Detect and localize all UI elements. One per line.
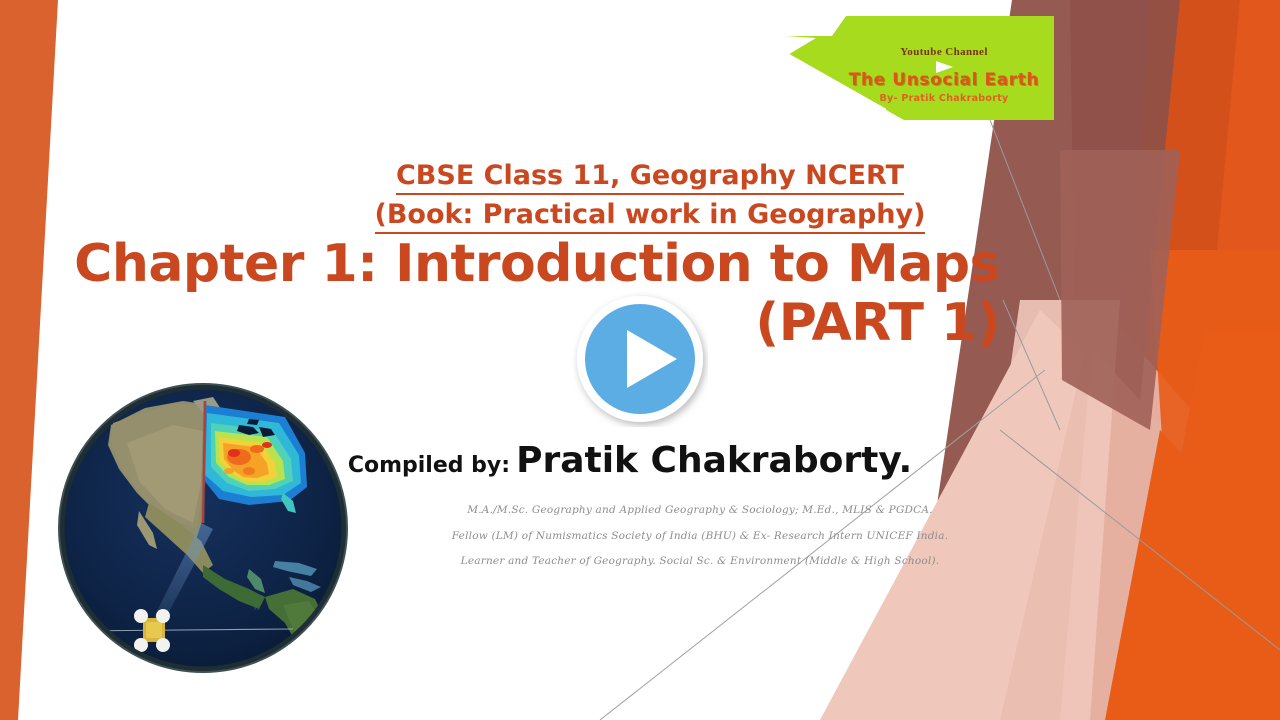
author-credentials: M.A./M.Sc. Geography and Applied Geograp… bbox=[400, 498, 1000, 575]
title-line-2: (PART 1) bbox=[60, 291, 1000, 356]
credential-line: Fellow (LM) of Numismatics Society of In… bbox=[400, 524, 1000, 550]
svg-text:››: ›› bbox=[253, 604, 260, 614]
banner-byline: By- Pratik Chakraborty bbox=[786, 93, 1054, 104]
heading-line-2: (Book: Practical work in Geography) bbox=[375, 199, 926, 234]
left-orange-wedge bbox=[0, 0, 58, 720]
compiled-by-label: Compiled by: bbox=[348, 453, 510, 478]
banner-subtitle: Youtube Channel bbox=[786, 46, 1054, 58]
play-button-overlay[interactable] bbox=[573, 292, 708, 427]
title-line-1: Chapter 1: Introduction to Maps bbox=[60, 238, 1000, 291]
slide-canvas: Youtube Channel The Unsocial Earth By- P… bbox=[0, 0, 1280, 720]
banner-title: The Unsocial Earth bbox=[786, 70, 1054, 90]
course-heading: CBSE Class 11, Geography NCERT (Book: Pr… bbox=[300, 160, 1000, 234]
credential-line: M.A./M.Sc. Geography and Applied Geograp… bbox=[400, 498, 1000, 524]
youtube-channel-banner: Youtube Channel The Unsocial Earth By- P… bbox=[786, 12, 1054, 120]
author-name: Pratik Chakraborty. bbox=[516, 440, 912, 481]
heading-line-1: CBSE Class 11, Geography NCERT bbox=[396, 160, 904, 195]
author-line: Compiled by:Pratik Chakraborty. bbox=[260, 440, 1000, 481]
credential-line: Learner and Teacher of Geography. Social… bbox=[400, 549, 1000, 575]
earth-globe-satellite-image: ›› bbox=[53, 383, 353, 673]
page-title: Chapter 1: Introduction to Maps (PART 1) bbox=[60, 238, 1000, 356]
